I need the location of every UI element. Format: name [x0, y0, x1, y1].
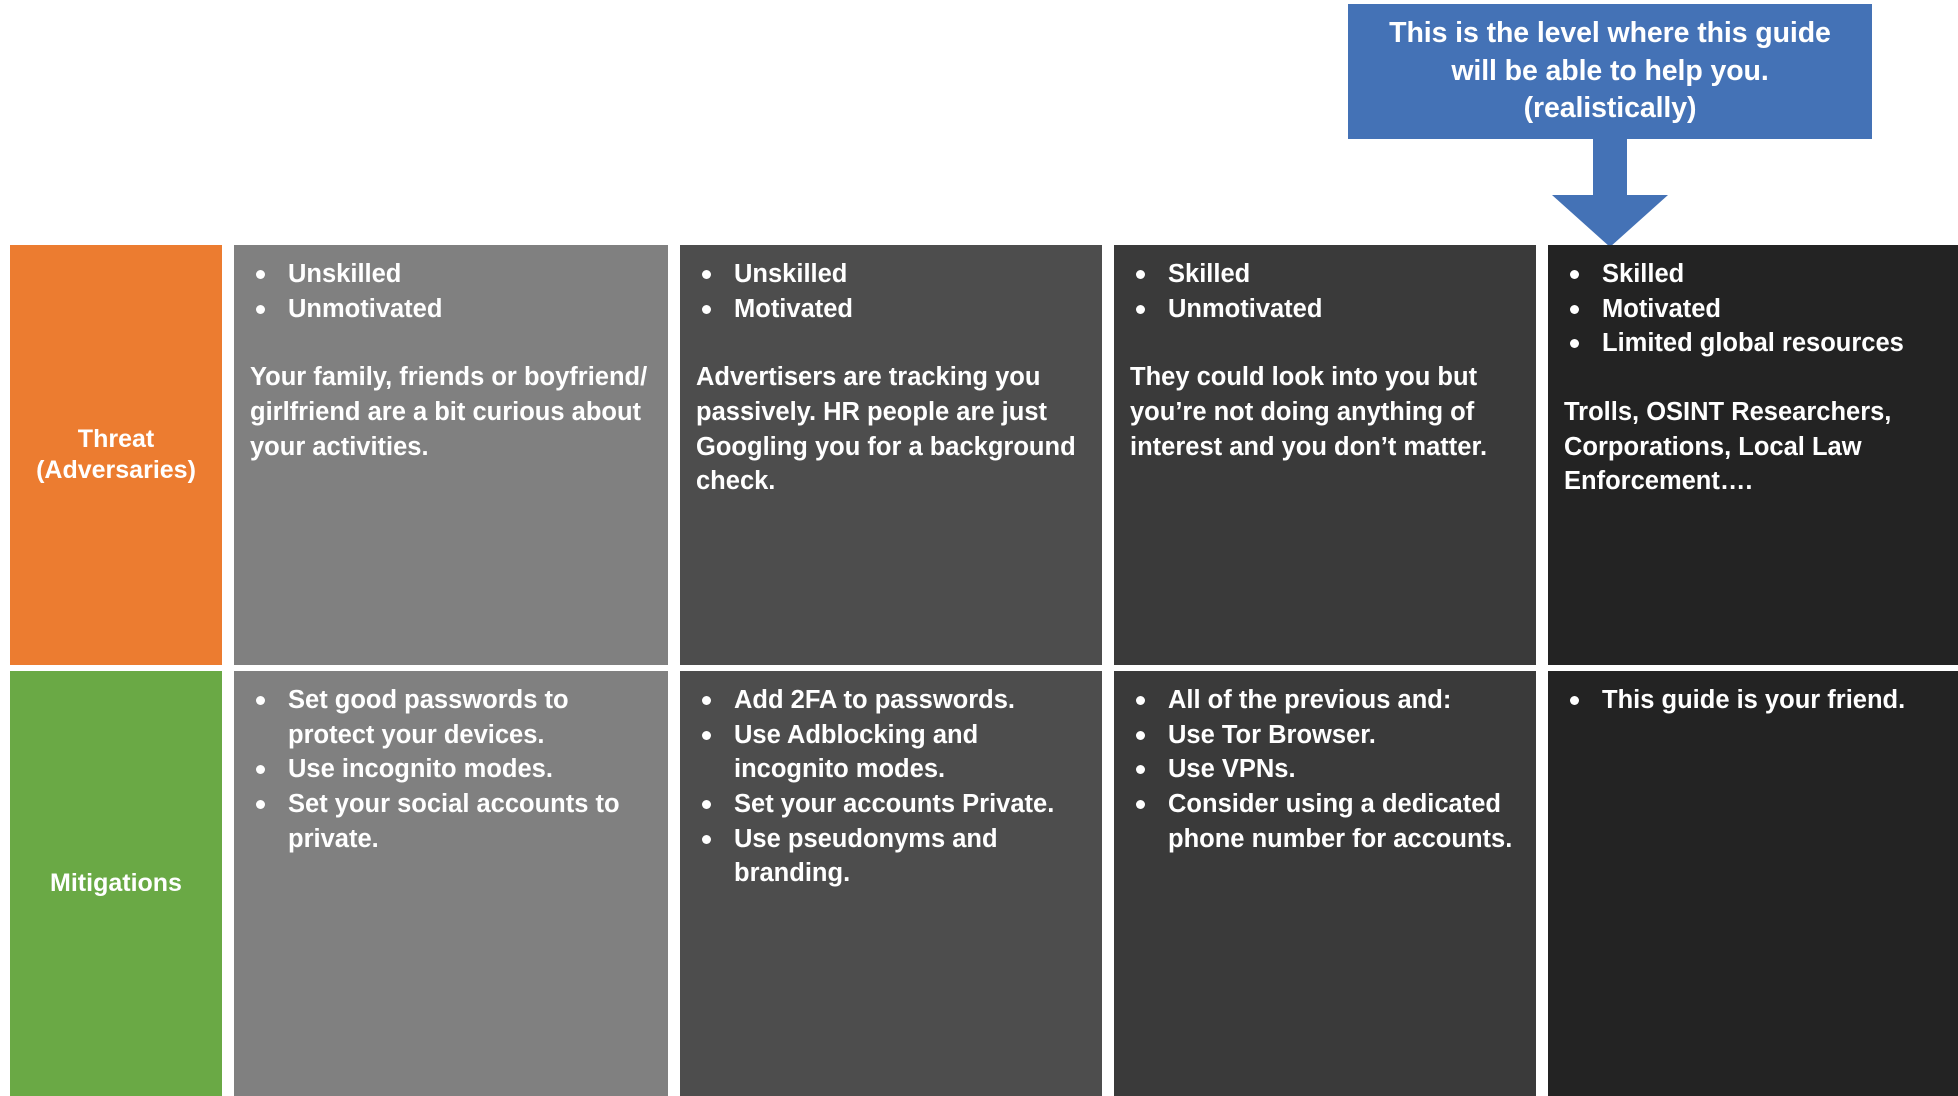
callout-line-2: will be able to help you. — [1451, 53, 1768, 91]
row-label-mitigations: Mitigations — [10, 671, 222, 1096]
list-item: Motivated — [696, 292, 1086, 327]
mitigations-bullets-level-4: This guide is your friend. — [1564, 683, 1954, 718]
mitigations-bullets-level-1: Set good passwords to protect your devic… — [250, 683, 652, 856]
list-item: Set your social accounts to private. — [250, 787, 652, 856]
callout-line-3: (realistically) — [1524, 90, 1697, 128]
list-item: Add 2FA to passwords. — [696, 683, 1086, 718]
threat-bullets-level-2: Unskilled Motivated — [696, 257, 1086, 326]
list-item: Use Tor Browser. — [1130, 718, 1520, 753]
threat-model-matrix: Threat (Adversaries) Unskilled Unmotivat… — [10, 245, 1948, 1090]
threat-paragraph-level-2: Advertisers are tracking you passively. … — [696, 360, 1086, 499]
mitigations-bullets-level-3: All of the previous and: Use Tor Browser… — [1130, 683, 1520, 856]
list-item: Unmotivated — [1130, 292, 1520, 327]
callout-group: This is the level where this guide will … — [1348, 4, 1872, 244]
list-item: Set good passwords to protect your devic… — [250, 683, 652, 752]
threat-paragraph-level-3: They could look into you but you’re not … — [1130, 360, 1520, 464]
callout-box: This is the level where this guide will … — [1348, 4, 1872, 139]
list-item: Unskilled — [696, 257, 1086, 292]
threat-cell-level-1: Unskilled Unmotivated Your family, frien… — [234, 245, 668, 665]
list-item: All of the previous and: — [1130, 683, 1520, 718]
list-item: This guide is your friend. — [1564, 683, 1954, 718]
threat-cell-level-4: Skilled Motivated Limited global resourc… — [1548, 245, 1958, 665]
threat-cell-level-3: Skilled Unmotivated They could look into… — [1114, 245, 1536, 665]
threat-bullets-level-1: Unskilled Unmotivated — [250, 257, 652, 326]
threat-paragraph-level-4: Trolls, OSINT Researchers, Corporations,… — [1564, 395, 1954, 499]
list-item: Unskilled — [250, 257, 652, 292]
mitigations-cell-level-2: Add 2FA to passwords. Use Adblocking and… — [680, 671, 1102, 1096]
mitigations-bullets-level-2: Add 2FA to passwords. Use Adblocking and… — [696, 683, 1086, 891]
row-label-threat-text: Threat (Adversaries) — [36, 424, 196, 487]
list-item: Skilled — [1130, 257, 1520, 292]
threat-bullets-level-3: Skilled Unmotivated — [1130, 257, 1520, 326]
threat-bullets-level-4: Skilled Motivated Limited global resourc… — [1564, 257, 1954, 361]
row-label-mitigations-text: Mitigations — [50, 868, 182, 899]
threat-cell-level-2: Unskilled Motivated Advertisers are trac… — [680, 245, 1102, 665]
mitigations-cell-level-4: This guide is your friend. — [1548, 671, 1958, 1096]
list-item: Use pseudonyms and branding. — [696, 822, 1086, 891]
down-arrow-icon — [1530, 137, 1690, 247]
list-item: Consider using a dedicated phone number … — [1130, 787, 1520, 856]
list-item: Skilled — [1564, 257, 1954, 292]
list-item: Unmotivated — [250, 292, 652, 327]
row-label-threat: Threat (Adversaries) — [10, 245, 222, 665]
threat-paragraph-level-1: Your family, friends or boyfriend/ girlf… — [250, 360, 652, 464]
list-item: Set your accounts Private. — [696, 787, 1086, 822]
list-item: Limited global resources — [1564, 326, 1954, 361]
mitigations-cell-level-3: All of the previous and: Use Tor Browser… — [1114, 671, 1536, 1096]
list-item: Use incognito modes. — [250, 752, 652, 787]
mitigations-cell-level-1: Set good passwords to protect your devic… — [234, 671, 668, 1096]
list-item: Use Adblocking and incognito modes. — [696, 718, 1086, 787]
list-item: Use VPNs. — [1130, 752, 1520, 787]
callout-line-1: This is the level where this guide — [1389, 15, 1831, 53]
list-item: Motivated — [1564, 292, 1954, 327]
